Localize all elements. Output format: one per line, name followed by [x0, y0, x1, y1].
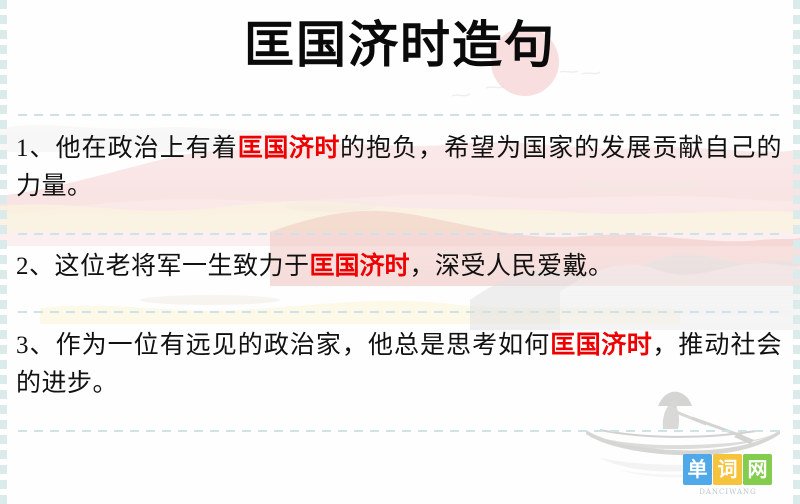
example-sentence-2: 2、这位老将军一生致力于匡国济时，深受人民爱戴。 — [16, 248, 782, 286]
sentence-2-part-1: 2、这位老将军一生致力于 — [16, 253, 310, 280]
sentence-2-keyword: 匡国济时 — [310, 253, 410, 280]
site-logo[interactable]: 单 词 网 DANCIWANG — [680, 454, 776, 496]
logo-subtitle: DANCIWANG — [680, 488, 776, 496]
example-sentence-3: 3、作为一位有远见的政治家，他总是思考如何匡国济时，推动社会的进步。 — [16, 327, 782, 403]
logo-glyph-3: 网 — [743, 454, 772, 485]
sentence-1-part-1: 1、他在政治上有着 — [16, 135, 238, 162]
logo-glyph-2: 词 — [713, 454, 742, 485]
poster-canvas: 匡国济时造句 1、他在政治上有着匡国济时的抱负，希望为国家的发展贡献自己的力量。… — [0, 0, 800, 504]
logo-glyph-1: 单 — [683, 454, 712, 485]
rule-below-sentence-1 — [18, 233, 782, 235]
rule-below-sentence-2 — [18, 311, 782, 313]
sentence-3-part-1: 3、作为一位有远见的政治家，他总是思考如何 — [16, 332, 550, 359]
rule-below-sentence-3 — [18, 430, 782, 432]
page-title: 匡国济时造句 — [244, 14, 556, 77]
page-title-container: 匡国济时造句 — [0, 14, 800, 77]
example-sentence-1: 1、他在政治上有着匡国济时的抱负，希望为国家的发展贡献自己的力量。 — [16, 130, 782, 206]
rule-below-title — [18, 114, 782, 116]
sentence-3-keyword: 匡国济时 — [550, 332, 652, 359]
sentence-1-keyword: 匡国济时 — [238, 135, 340, 162]
sentence-2-part-3: ，深受人民爱戴。 — [410, 253, 614, 280]
logo-book-icon: 单 词 网 — [683, 454, 773, 485]
